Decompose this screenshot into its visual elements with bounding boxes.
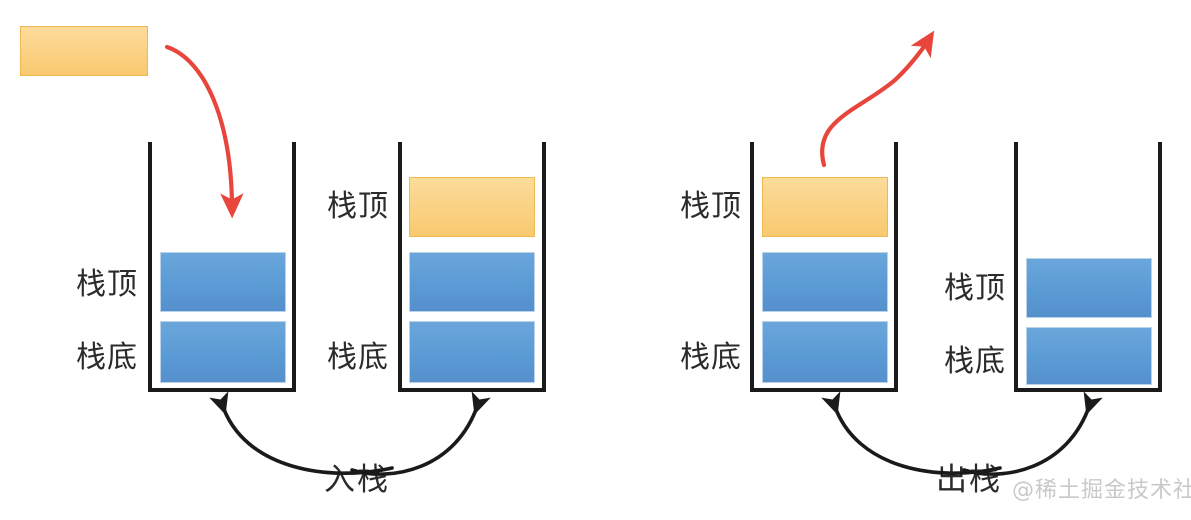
stack-diagram-canvas: 栈顶 栈底 栈顶 栈底 入栈 栈顶 栈底 栈顶 栈底 出栈 @稀土掘金技术社区 — [0, 0, 1191, 520]
pop-source-label-bottom: 栈底 — [680, 341, 742, 375]
pop-result-label-bottom: 栈底 — [944, 345, 1006, 379]
push-operation-label: 入栈 — [324, 462, 390, 498]
push-result-label-bottom: 栈底 — [327, 341, 389, 375]
push-source-label-bottom: 栈底 — [76, 341, 138, 375]
watermark-text: @稀土掘金技术社区 — [1012, 478, 1191, 504]
push-result-label-top: 栈顶 — [327, 190, 389, 224]
pop-source-block-top-yellow — [762, 177, 888, 237]
push-source-label-top: 栈顶 — [76, 268, 138, 302]
pop-result-block-top — [1026, 258, 1152, 318]
pop-result-label-top: 栈顶 — [944, 272, 1006, 306]
pop-source-block-middle — [762, 252, 888, 312]
push-result-block-bottom — [409, 321, 535, 383]
pop-result-block-bottom — [1026, 327, 1152, 385]
push-source-block-top — [160, 252, 286, 312]
push-result-block-middle — [409, 252, 535, 312]
incoming-block-yellow — [20, 26, 148, 76]
pop-source-label-top: 栈顶 — [680, 190, 742, 224]
push-source-block-bottom — [160, 321, 286, 383]
pop-source-block-bottom — [762, 321, 888, 383]
pop-operation-label: 出栈 — [936, 462, 1002, 498]
push-result-block-top-yellow — [409, 177, 535, 237]
